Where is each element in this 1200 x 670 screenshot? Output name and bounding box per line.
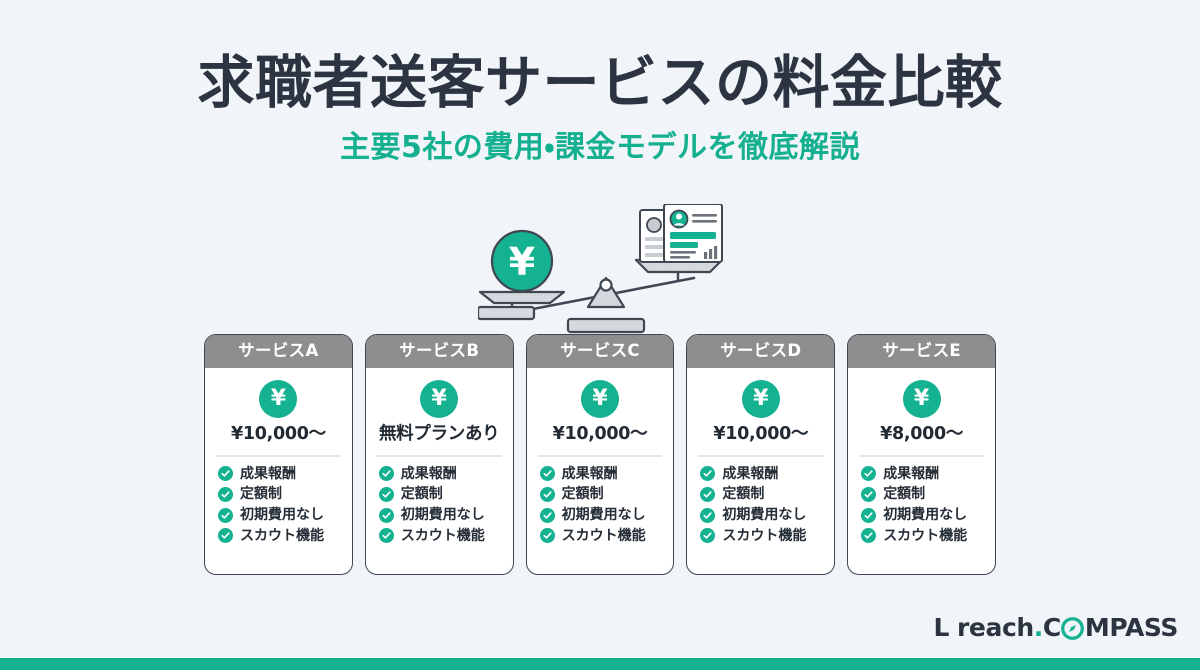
- check-icon: [540, 528, 555, 543]
- list-item: スカウト機能: [379, 528, 504, 544]
- check-icon: [700, 487, 715, 502]
- scale-right-pan: [636, 260, 722, 282]
- list-item: 成果報酬: [379, 466, 504, 482]
- service-card-body: ¥ ¥10,000〜 成果報酬 定額制 初期費用なし: [687, 368, 834, 574]
- yen-coin-icon: ¥: [420, 380, 458, 418]
- feature-label: 定額制: [562, 486, 604, 502]
- bottom-accent-bar: [0, 658, 1200, 670]
- feature-label: スカウト機能: [240, 528, 324, 544]
- check-icon: [540, 487, 555, 502]
- check-icon: [379, 487, 394, 502]
- list-item: スカウト機能: [218, 528, 343, 544]
- feature-label: スカウト機能: [883, 528, 967, 544]
- check-icon: [861, 466, 876, 481]
- feature-label: 定額制: [401, 486, 443, 502]
- yen-coin-icon: ¥: [903, 380, 941, 418]
- header: 求職者送客サービスの料金比較 主要5社の費用・課金モデルを徹底解説: [0, 0, 1200, 166]
- feature-label: 成果報酬: [401, 466, 457, 482]
- service-price: ¥8,000〜: [880, 425, 963, 444]
- check-icon: [218, 466, 233, 481]
- divider: [377, 455, 502, 457]
- check-icon: [218, 508, 233, 523]
- service-card-e[interactable]: サービスE ¥ ¥8,000〜 成果報酬 定額制 初期費用: [847, 334, 996, 575]
- feature-list: 成果報酬 定額制 初期費用なし スカウト機能: [536, 466, 665, 544]
- list-item: 成果報酬: [218, 466, 343, 482]
- list-item: スカウト機能: [540, 528, 665, 544]
- feature-label: 成果報酬: [562, 466, 618, 482]
- check-icon: [861, 528, 876, 543]
- yen-coin-icon: ¥: [492, 231, 552, 291]
- slide-canvas: 求職者送客サービスの料金比較 主要5社の費用・課金モデルを徹底解説: [0, 0, 1200, 670]
- feature-label: スカウト機能: [401, 528, 485, 544]
- list-item: 定額制: [861, 486, 986, 502]
- check-icon: [218, 487, 233, 502]
- yen-coin-icon: ¥: [742, 380, 780, 418]
- check-icon: [379, 466, 394, 481]
- list-item: 定額制: [218, 486, 343, 502]
- service-card-body: ¥ ¥10,000〜 成果報酬 定額制 初期費用なし: [205, 368, 352, 574]
- list-item: 初期費用なし: [379, 507, 504, 523]
- list-item: 成果報酬: [540, 466, 665, 482]
- list-item: 成果報酬: [861, 466, 986, 482]
- service-card-b[interactable]: サービスB ¥ 無料プランあり 成果報酬 定額制 初期費用: [365, 334, 514, 575]
- feature-label: 定額制: [240, 486, 282, 502]
- feature-list: 成果報酬 定額制 初期費用なし スカウト機能: [857, 466, 986, 544]
- service-cards-row: サービスA ¥ ¥10,000〜 成果報酬 定額制 初期費: [204, 334, 996, 575]
- feature-label: 成果報酬: [883, 466, 939, 482]
- service-card-title: サービスC: [527, 335, 674, 368]
- feature-label: スカウト機能: [722, 528, 806, 544]
- check-icon: [700, 508, 715, 523]
- check-icon: [379, 528, 394, 543]
- service-price: ¥10,000〜: [231, 425, 326, 444]
- check-icon: [540, 466, 555, 481]
- feature-list: 成果報酬 定額制 初期費用なし スカウト機能: [375, 466, 504, 544]
- check-icon: [218, 528, 233, 543]
- service-card-c[interactable]: サービスC ¥ ¥10,000〜 成果報酬 定額制 初期費: [526, 334, 675, 575]
- check-icon: [861, 508, 876, 523]
- service-card-body: ¥ ¥8,000〜 成果報酬 定額制 初期費用なし: [848, 368, 995, 574]
- svg-text:¥: ¥: [509, 240, 535, 284]
- feature-label: 初期費用なし: [562, 507, 646, 523]
- service-card-d[interactable]: サービスD ¥ ¥10,000〜 成果報酬 定額制 初期費: [686, 334, 835, 575]
- feature-list: 成果報酬 定額制 初期費用なし スカウト機能: [696, 466, 825, 544]
- feature-label: 成果報酬: [240, 466, 296, 482]
- list-item: 定額制: [540, 486, 665, 502]
- divider: [698, 455, 823, 457]
- service-card-body: ¥ 無料プランあり 成果報酬 定額制 初期費用なし: [366, 368, 513, 574]
- feature-label: 初期費用なし: [722, 507, 806, 523]
- logo-brand-end: MPASS: [1085, 615, 1178, 640]
- page-title: 求職者送客サービスの料金比較: [0, 52, 1200, 116]
- list-item: 初期費用なし: [540, 507, 665, 523]
- feature-label: 定額制: [722, 486, 764, 502]
- service-price: 無料プランあり: [379, 425, 499, 444]
- scale-fulcrum: [478, 278, 644, 332]
- service-card-title: サービスA: [205, 335, 352, 368]
- divider: [859, 455, 984, 457]
- logo-brand-start: C: [1043, 615, 1061, 640]
- feature-label: 定額制: [883, 486, 925, 502]
- logo-prefix: L: [933, 615, 949, 640]
- list-item: 初期費用なし: [218, 507, 343, 523]
- feature-label: スカウト機能: [562, 528, 646, 544]
- list-item: スカウト機能: [861, 528, 986, 544]
- check-icon: [700, 466, 715, 481]
- yen-coin-icon: ¥: [581, 380, 619, 418]
- service-card-a[interactable]: サービスA ¥ ¥10,000〜 成果報酬 定額制 初期費: [204, 334, 353, 575]
- check-icon: [540, 508, 555, 523]
- service-price: ¥10,000〜: [553, 425, 648, 444]
- list-item: 定額制: [379, 486, 504, 502]
- feature-label: 初期費用なし: [401, 507, 485, 523]
- compass-icon: [1061, 617, 1084, 640]
- page-subtitle: 主要5社の費用・課金モデルを徹底解説: [0, 130, 1200, 166]
- service-price: ¥10,000〜: [713, 425, 808, 444]
- brand-logo: L reach . C MPASS: [933, 615, 1178, 640]
- list-item: 成果報酬: [700, 466, 825, 482]
- feature-list: 成果報酬 定額制 初期費用なし スカウト機能: [214, 466, 343, 544]
- list-item: 定額制: [700, 486, 825, 502]
- service-card-title: サービスD: [687, 335, 834, 368]
- feature-label: 成果報酬: [722, 466, 778, 482]
- service-card-body: ¥ ¥10,000〜 成果報酬 定額制 初期費用なし: [527, 368, 674, 574]
- service-card-title: サービスB: [366, 335, 513, 368]
- yen-coin-icon: ¥: [259, 380, 297, 418]
- service-card-title: サービスE: [848, 335, 995, 368]
- feature-label: 初期費用なし: [883, 507, 967, 523]
- logo-word: reach: [957, 615, 1034, 640]
- logo-dot: .: [1034, 615, 1043, 640]
- balance-scale-illustration: ¥: [478, 204, 728, 344]
- list-item: スカウト機能: [700, 528, 825, 544]
- divider: [538, 455, 663, 457]
- divider: [216, 455, 341, 457]
- feature-label: 初期費用なし: [240, 507, 324, 523]
- list-item: 初期費用なし: [861, 507, 986, 523]
- check-icon: [861, 487, 876, 502]
- list-item: 初期費用なし: [700, 507, 825, 523]
- check-icon: [379, 508, 394, 523]
- resume-documents-icon: [640, 204, 722, 262]
- check-icon: [700, 528, 715, 543]
